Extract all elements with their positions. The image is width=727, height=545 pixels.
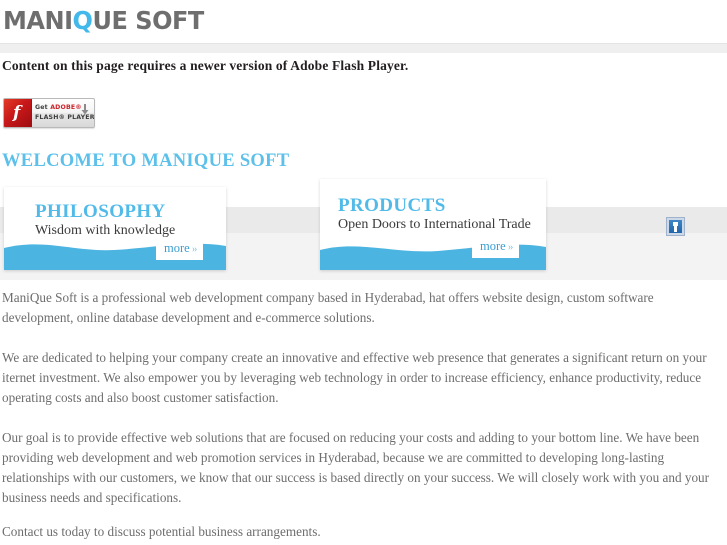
flash-badge-get-label: Get [35, 104, 50, 111]
get-adobe-flash-player-button[interactable]: f Get ADOBE®FLASH® PLAYER [3, 98, 95, 128]
site-header: MANIQUE SOFT [0, 0, 727, 43]
page-title: WELCOME TO MANIQUE SOFT [2, 151, 289, 172]
contact-line: Contact us today to discuss potential bu… [2, 522, 321, 542]
header-divider [0, 43, 727, 53]
download-arrow-icon [81, 104, 89, 116]
feature-card-philosophy[interactable]: PHILOSOPHY Wisdom with knowledge more›› [4, 187, 226, 270]
paragraph: We are dedicated to helping your company… [2, 348, 723, 408]
chevron-right-icon: ›› [508, 242, 513, 253]
card-more-label: more [480, 239, 506, 253]
paragraph: Our goal is to provide effective web sol… [2, 428, 723, 508]
missing-plugin-glyph [669, 220, 682, 233]
card-title: PRODUCTS [338, 195, 446, 217]
paragraph: ManiQue Soft is a professional web devel… [2, 288, 723, 328]
card-more-button[interactable]: more›› [156, 239, 203, 260]
card-more-button[interactable]: more›› [472, 237, 519, 258]
logo-accent-letter: Q [73, 6, 93, 35]
card-subtitle: Wisdom with knowledge [35, 223, 175, 239]
logo-text-prefix: MANI [3, 6, 73, 35]
card-subtitle: Open Doors to International Trade [338, 217, 531, 233]
card-more-label: more [164, 241, 190, 255]
flash-f-glyph: f [13, 103, 20, 123]
flash-required-notice: Content on this page requires a newer ve… [2, 58, 408, 74]
missing-plugin-icon[interactable] [666, 217, 685, 236]
feature-card-products[interactable]: PRODUCTS Open Doors to International Tra… [320, 179, 546, 270]
flash-badge-adobe-label: ADOBE® [50, 104, 82, 111]
logo-text-suffix: UE SOFT [92, 6, 203, 35]
flash-logo-icon: f [4, 99, 32, 127]
main-content: ManiQue Soft is a professional web devel… [2, 288, 723, 508]
card-title: PHILOSOPHY [35, 201, 166, 223]
chevron-right-icon: ›› [192, 244, 197, 255]
site-logo[interactable]: MANIQUE SOFT [3, 6, 204, 36]
